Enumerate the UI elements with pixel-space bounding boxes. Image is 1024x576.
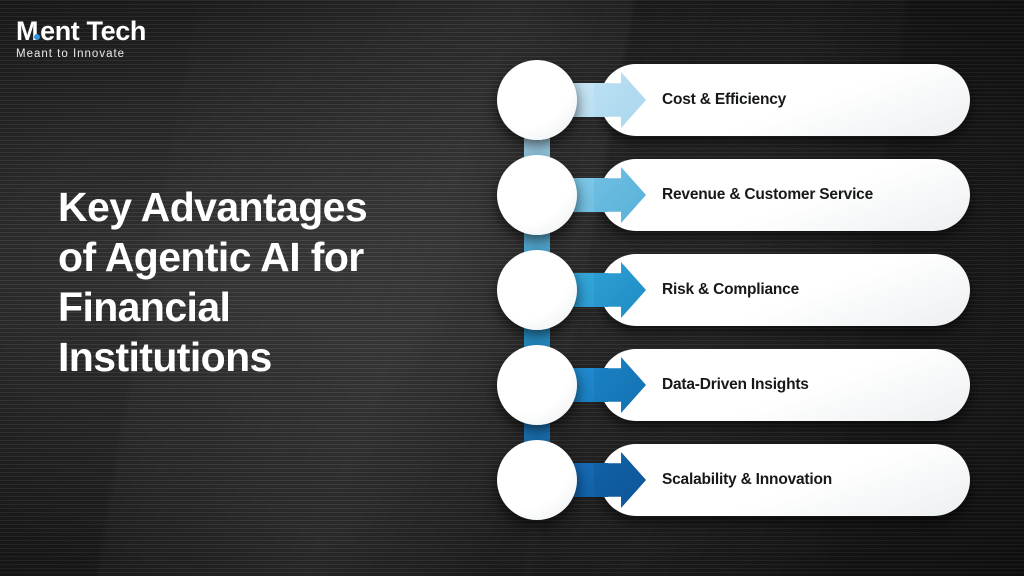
- step-circle[interactable]: [497, 60, 577, 140]
- step-circle[interactable]: [497, 250, 577, 330]
- flow-row: Cost & Efficiency: [0, 56, 1024, 152]
- advantage-label: Data-Driven Insights: [662, 349, 952, 421]
- advantage-label: Risk & Compliance: [662, 254, 952, 326]
- advantage-pill[interactable]: Risk & Compliance: [600, 254, 970, 326]
- infographic-canvas: Ment Tech Meant to Innovate Key Advantag…: [0, 0, 1024, 576]
- flow-row: Revenue & Customer Service: [0, 151, 1024, 247]
- advantage-label: Scalability & Innovation: [662, 444, 952, 516]
- advantages-flow-list: Cost & EfficiencyRevenue & Customer Serv…: [0, 0, 1024, 576]
- step-circle[interactable]: [497, 440, 577, 520]
- advantage-pill[interactable]: Data-Driven Insights: [600, 349, 970, 421]
- step-circle[interactable]: [497, 345, 577, 425]
- flow-row: Scalability & Innovation: [0, 436, 1024, 532]
- advantage-pill[interactable]: Cost & Efficiency: [600, 64, 970, 136]
- advantage-label: Revenue & Customer Service: [662, 159, 952, 231]
- flow-row: Data-Driven Insights: [0, 341, 1024, 437]
- advantage-label: Cost & Efficiency: [662, 64, 952, 136]
- flow-row: Risk & Compliance: [0, 246, 1024, 342]
- step-circle[interactable]: [497, 155, 577, 235]
- advantage-pill[interactable]: Revenue & Customer Service: [600, 159, 970, 231]
- advantage-pill[interactable]: Scalability & Innovation: [600, 444, 970, 516]
